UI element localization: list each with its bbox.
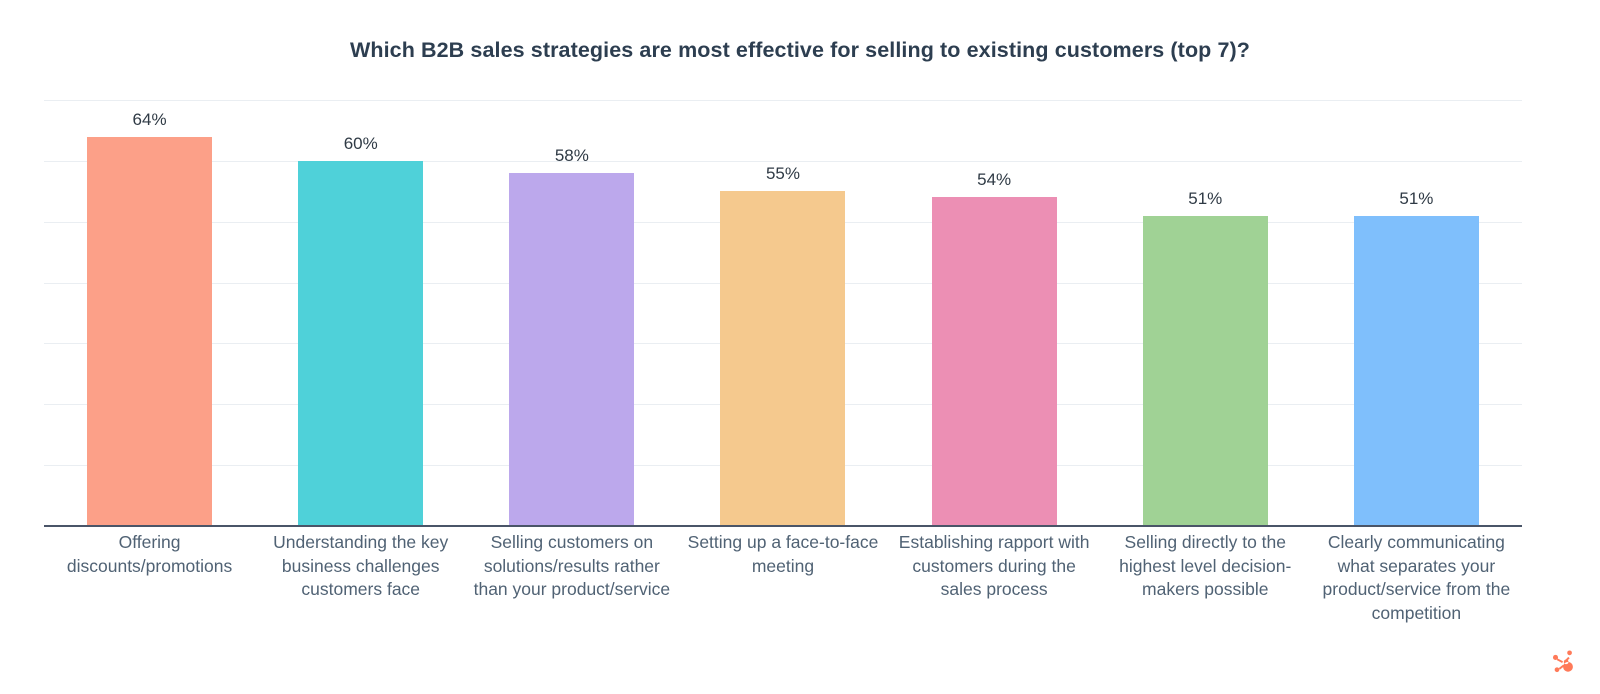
bar[interactable] <box>87 137 212 526</box>
x-axis-label: Selling directly to the highest level de… <box>1100 531 1311 602</box>
bar-value-label: 60% <box>344 135 378 152</box>
bar[interactable] <box>932 197 1057 526</box>
bar-group[interactable]: 55% <box>677 100 888 526</box>
bar-group[interactable]: 51% <box>1311 100 1522 526</box>
bar-value-label: 64% <box>133 111 167 128</box>
bar-value-label: 55% <box>766 165 800 182</box>
bar-series: 64%60%58%55%54%51%51% <box>44 100 1522 526</box>
bar[interactable] <box>720 191 845 526</box>
bar-group[interactable]: 54% <box>889 100 1100 526</box>
x-axis-label: Clearly communicating what separates you… <box>1311 531 1522 625</box>
plot-area: 64%60%58%55%54%51%51% <box>44 100 1522 526</box>
bar-group[interactable]: 60% <box>255 100 466 526</box>
x-axis-label: Understanding the key business challenge… <box>255 531 466 602</box>
x-axis-label: Offering discounts/promotions <box>44 531 255 578</box>
bar-group[interactable]: 58% <box>466 100 677 526</box>
x-axis-line <box>44 525 1522 527</box>
bar-value-label: 54% <box>977 171 1011 188</box>
hubspot-sprocket-logo <box>1548 646 1578 676</box>
bar[interactable] <box>509 173 634 526</box>
chart-container: Which B2B sales strategies are most effe… <box>0 0 1600 694</box>
bar[interactable] <box>298 161 423 526</box>
bar-value-label: 51% <box>1188 190 1222 207</box>
bar[interactable] <box>1143 216 1268 526</box>
x-axis-labels: Offering discounts/promotionsUnderstandi… <box>44 531 1522 625</box>
x-axis-label: Selling customers on solutions/results r… <box>466 531 677 602</box>
x-axis-label: Setting up a face-to-face meeting <box>677 531 888 578</box>
bar-value-label: 51% <box>1399 190 1433 207</box>
bar-group[interactable]: 64% <box>44 100 255 526</box>
bar-value-label: 58% <box>555 147 589 164</box>
bar[interactable] <box>1354 216 1479 526</box>
chart-title: Which B2B sales strategies are most effe… <box>0 38 1600 64</box>
bar-group[interactable]: 51% <box>1100 100 1311 526</box>
x-axis-label: Establishing rapport with customers duri… <box>889 531 1100 602</box>
